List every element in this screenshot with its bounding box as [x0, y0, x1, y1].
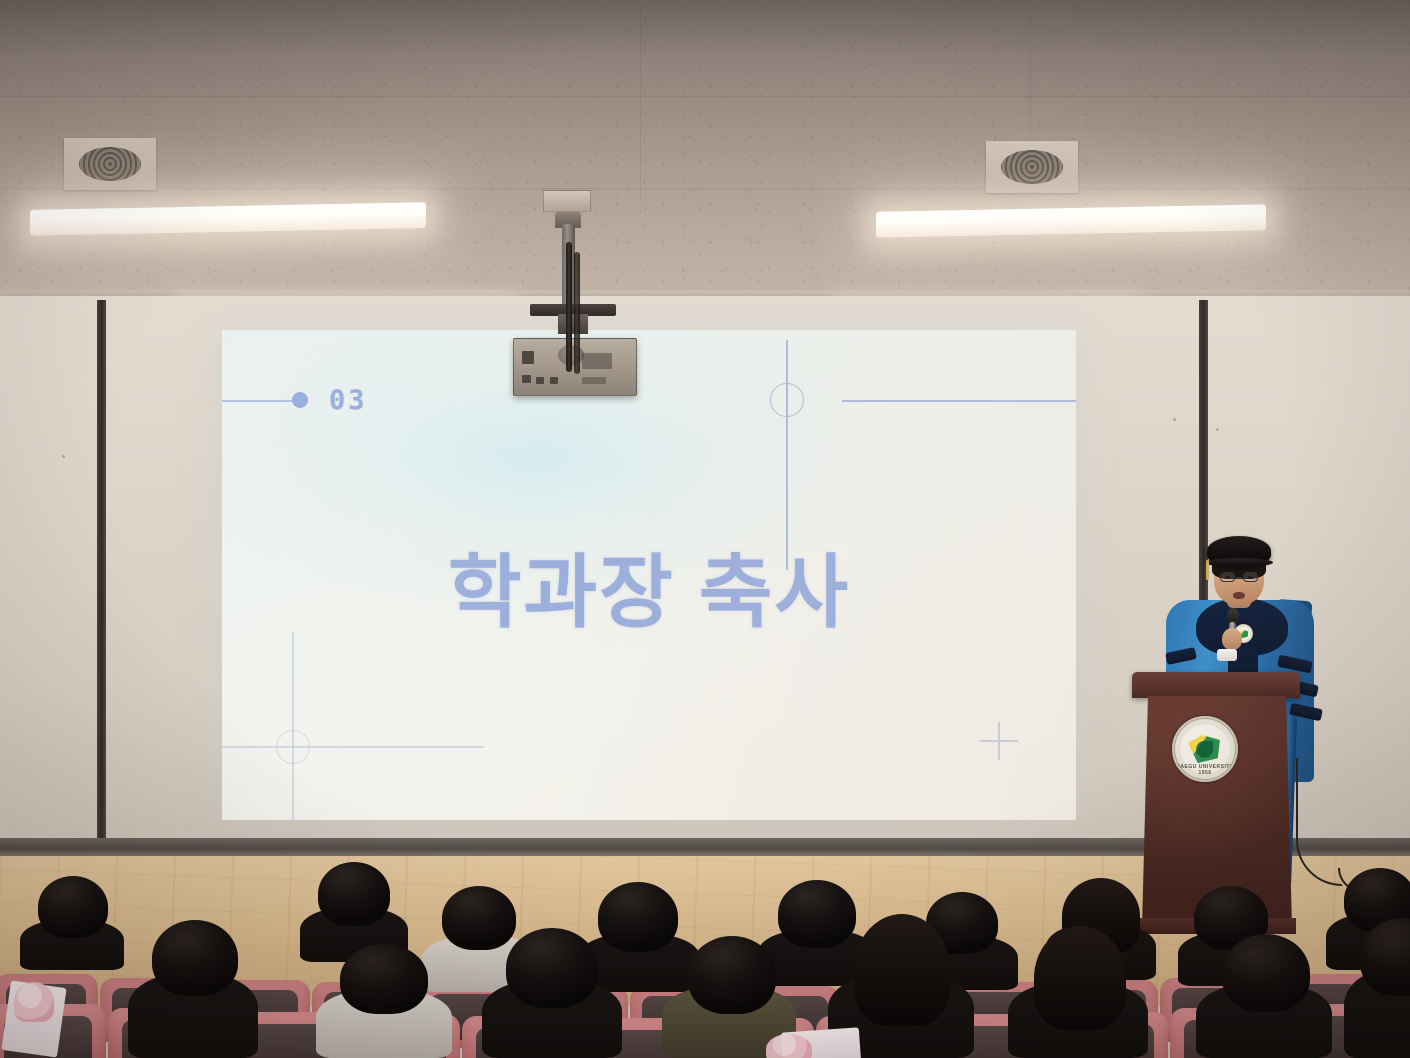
- slide-deco-line-top-right: [842, 400, 1076, 402]
- projector-cable: [566, 242, 572, 372]
- air-vent: [64, 138, 156, 190]
- wall-blemish: [62, 455, 65, 458]
- audience-head: [1034, 926, 1126, 1030]
- eye: [1225, 576, 1230, 579]
- wall-blemish: [1173, 418, 1176, 421]
- slide-number: 03: [329, 385, 368, 416]
- slide-deco-line-bottom-left: [222, 746, 484, 748]
- ceiling: [0, 0, 1410, 300]
- projector-port: [582, 353, 612, 369]
- slide-crosshair-ring-top-right: [770, 383, 804, 417]
- ceiling-seam: [640, 0, 641, 200]
- ceiling-texture: [0, 0, 1410, 300]
- bouquet: [766, 1034, 812, 1058]
- audience-head: [442, 886, 516, 950]
- wall-seam-left: [97, 300, 106, 856]
- air-vent: [986, 141, 1078, 193]
- vent-grille-icon: [1001, 150, 1063, 184]
- projector-mount-arm: [558, 314, 588, 334]
- projection-screen: 03 학과장 축사: [222, 330, 1076, 820]
- hand-holding-microphone: [1222, 628, 1242, 650]
- eye: [1248, 576, 1253, 579]
- projector-port: [536, 377, 544, 384]
- audience-head: [688, 936, 776, 1014]
- emblem-leaf-icon: [1196, 741, 1213, 758]
- podium-emblem-daegu-university: DAEGU UNIVERSITY 1956: [1172, 716, 1238, 782]
- auditorium-photo: 03 학과장 축사: [0, 0, 1410, 1058]
- audience-head: [1222, 934, 1310, 1012]
- slide-plus-cross-icon: [980, 722, 1018, 760]
- audience-head: [318, 862, 390, 926]
- projector-cable: [574, 252, 580, 374]
- slide-crosshair-ring-bottom-left: [276, 730, 310, 764]
- audience-head: [778, 880, 856, 948]
- audience-head: [340, 944, 428, 1014]
- tam-tassel: [1206, 560, 1209, 580]
- audience-head: [506, 928, 598, 1008]
- academic-tam-brim: [1205, 558, 1273, 567]
- audience: [0, 862, 1410, 1058]
- vent-grille-icon: [79, 147, 141, 181]
- slide-connector-line: [222, 400, 294, 402]
- bouquet: [14, 982, 54, 1022]
- projector-port: [522, 375, 531, 383]
- ceiling-seam: [0, 96, 1410, 97]
- projector-port: [522, 351, 534, 364]
- projector-port: [550, 377, 558, 384]
- mouth: [1233, 592, 1245, 599]
- ceiling-seam: [0, 188, 1410, 189]
- wall-blemish: [1216, 428, 1219, 431]
- projector-port: [582, 377, 606, 384]
- audience-head: [152, 920, 238, 996]
- slide-title: 학과장 축사: [222, 528, 1076, 644]
- shirt-cuff: [1217, 649, 1237, 661]
- slide-deco-line-vertical-left: [292, 632, 294, 820]
- glasses-bridge-icon: [1236, 577, 1242, 579]
- slide-connector-dot-icon: [292, 392, 308, 408]
- audience-head: [598, 882, 678, 952]
- emblem-text: DAEGU UNIVERSITY 1956: [1174, 764, 1236, 776]
- audience-head: [854, 914, 950, 1026]
- podium-top: [1132, 672, 1300, 698]
- projector-ceiling-plate: [543, 190, 591, 212]
- audience-head: [38, 876, 108, 938]
